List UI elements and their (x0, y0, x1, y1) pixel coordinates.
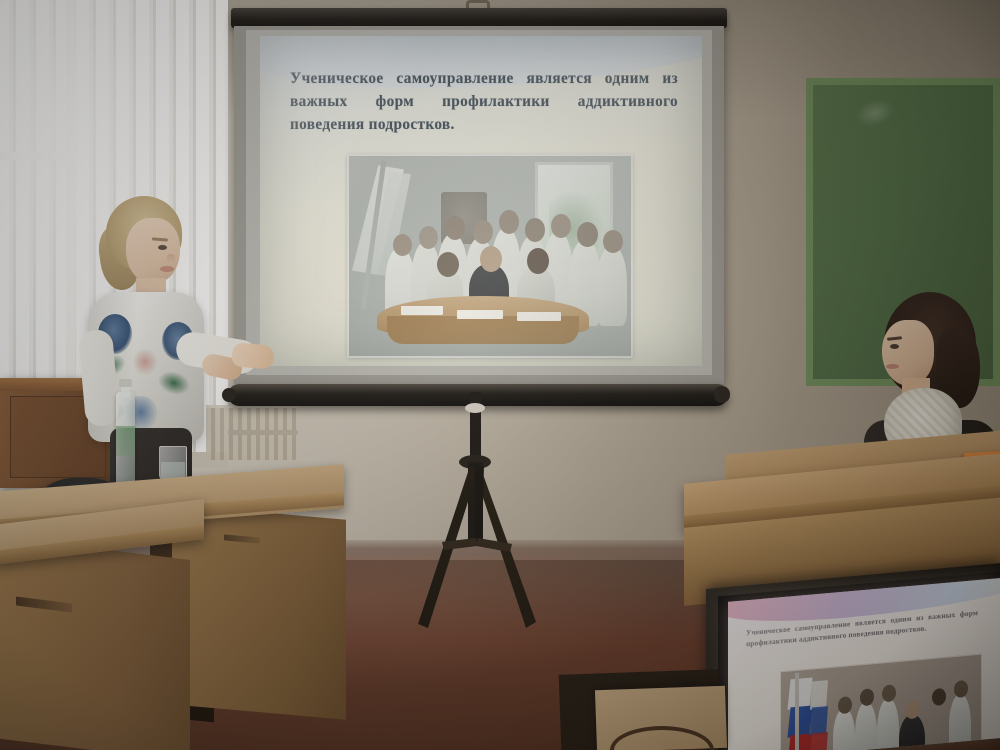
slide-vignette (260, 36, 702, 366)
desk-front-side-panel (0, 536, 190, 750)
tripod-stand (400, 392, 560, 632)
screen-bar-cap-right (714, 386, 730, 403)
presenter-right-hand (231, 342, 275, 370)
presenter-nose (167, 254, 175, 263)
seated-eye (890, 344, 899, 349)
screen-case (231, 8, 727, 28)
bottle-label (116, 426, 135, 456)
seated-lips (886, 364, 899, 369)
presentation-room-photo: Ученическое самоуправление является одни… (0, 0, 1000, 750)
monitor-screen[interactable]: Ученическое самоуправление является одни… (728, 578, 1000, 750)
bottle-cap (119, 379, 132, 387)
presenter-face (126, 218, 180, 284)
presenter-lips (160, 266, 174, 272)
seated-face (882, 320, 934, 386)
presenter-eye (158, 245, 167, 250)
projected-slide: Ученическое самоуправление является одни… (260, 36, 702, 366)
monitor-screen-glare (728, 578, 1000, 750)
